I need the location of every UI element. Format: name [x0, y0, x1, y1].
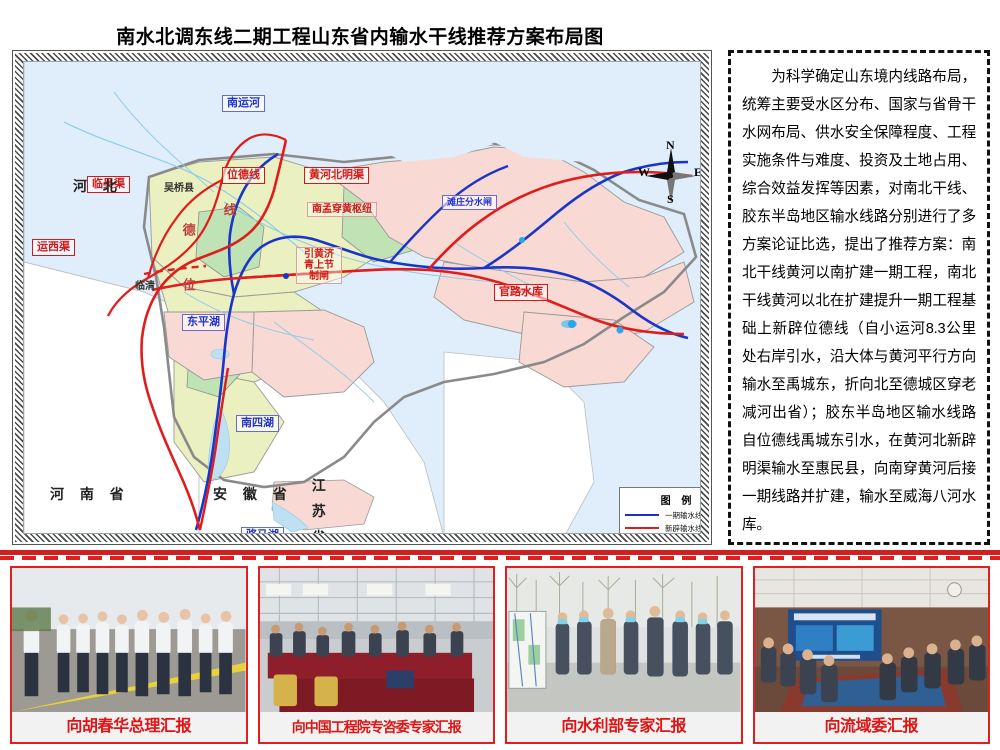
map-label-yinhuangjiqing: 引黄济青上节制闸: [296, 247, 342, 284]
map-label-dezhou: 德: [176, 222, 200, 237]
map-label-jiangsu: 江 苏 省: [306, 477, 331, 534]
map-panel: N S W E 南运河 临吴渠 运西渠 位德线 黄河北明渠 南孟穿黄枢纽 引黄济…: [12, 50, 712, 545]
red-separator-bar: [0, 550, 1000, 555]
legend-label: 新辟输水线路: [665, 523, 701, 534]
map-label-guanlu-reservoir: 官路水库: [494, 284, 548, 301]
photo-strip: 向胡春华总理汇报: [10, 566, 990, 744]
map-label-yunxiqu: 运西渠: [32, 239, 75, 256]
photo-image-conference-room-meeting: [260, 568, 494, 712]
description-panel: 为科学确定山东境内线路布局，统筹主要受水区分布、国家与省骨干水网布局、供水安全保…: [728, 50, 990, 545]
photo-image-conference-room-presentation: [755, 568, 989, 712]
description-text: 为科学确定山东境内线路布局，统筹主要受水区分布、国家与省骨干水网布局、供水安全保…: [742, 63, 976, 539]
map-label-tanzhuangfenshuizha: 滩庄分水闸: [442, 195, 497, 210]
legend-swatch-new-line-icon: [625, 524, 659, 533]
compass-south-label: S: [667, 192, 674, 207]
map-label-weideline: 位德线: [222, 167, 265, 184]
legend-swatch-phase1-line-icon: [625, 511, 659, 520]
legend-item: 一期输水线路: [625, 510, 701, 521]
photo-card[interactable]: 向胡春华总理汇报: [10, 566, 248, 744]
legend-title: 图 例: [625, 492, 701, 507]
map-label-weihe: 位: [176, 277, 200, 292]
compass-rose: N S W E: [636, 140, 701, 212]
photo-caption: 向流域委汇报: [755, 712, 989, 742]
photo-card[interactable]: 向水利部专家汇报: [505, 566, 743, 744]
map-label-nanmengchuanhuang: 南孟穿黄枢纽: [307, 202, 377, 217]
map-legend: 图 例 一期输水线路 新辟输水线路 沿一期扩建线路 仅一期需水受水区: [619, 487, 701, 534]
legend-label: 一期输水线路: [665, 510, 701, 521]
map-label-linqing: 临清: [131, 280, 159, 294]
map-geometry: [24, 62, 701, 534]
red-dashed-separator: [0, 556, 1000, 560]
photo-caption: 向中国工程院专咨委专家汇报: [260, 712, 494, 742]
photo-caption: 向水利部专家汇报: [507, 712, 741, 742]
map-label-xian: 线: [217, 202, 241, 217]
map-label-anhui: 安 徽 省: [209, 485, 297, 504]
map-canvas: N S W E 南运河 临吴渠 运西渠 位德线 黄河北明渠 南孟穿黄枢纽 引黄济…: [23, 61, 701, 534]
legend-item: 新辟输水线路: [625, 523, 701, 534]
compass-west-label: W: [638, 165, 650, 180]
map-label-nansihu: 南四湖: [236, 415, 279, 432]
map-label-nanyunhe: 南运河: [222, 95, 265, 112]
compass-north-label: N: [666, 138, 675, 153]
poster-root: 南水北调东线二期工程山东省内输水干线推荐方案布局图: [0, 0, 1000, 750]
map-label-dongpinghu: 东平湖: [182, 314, 225, 331]
photo-card[interactable]: 向流域委汇报: [753, 566, 991, 744]
photo-card[interactable]: 向中国工程院专咨委专家汇报: [258, 566, 496, 744]
compass-east-label: E: [694, 165, 701, 180]
photo-image-outdoor-map-briefing: [507, 568, 741, 712]
map-label-wuqiaoxian: 吴桥县: [160, 182, 198, 196]
map-label-luomahu: 骆马湖: [241, 527, 284, 534]
map-label-huanghebeimingqu: 黄河北明渠: [304, 167, 369, 184]
map-label-henan: 河 南 省: [46, 485, 134, 504]
map-label-hebei: 河 北: [69, 177, 127, 196]
photo-image-outdoor-group-inspection: [12, 568, 246, 712]
page-title: 南水北调东线二期工程山东省内输水干线推荐方案布局图: [0, 22, 720, 49]
photo-caption: 向胡春华总理汇报: [12, 712, 246, 742]
